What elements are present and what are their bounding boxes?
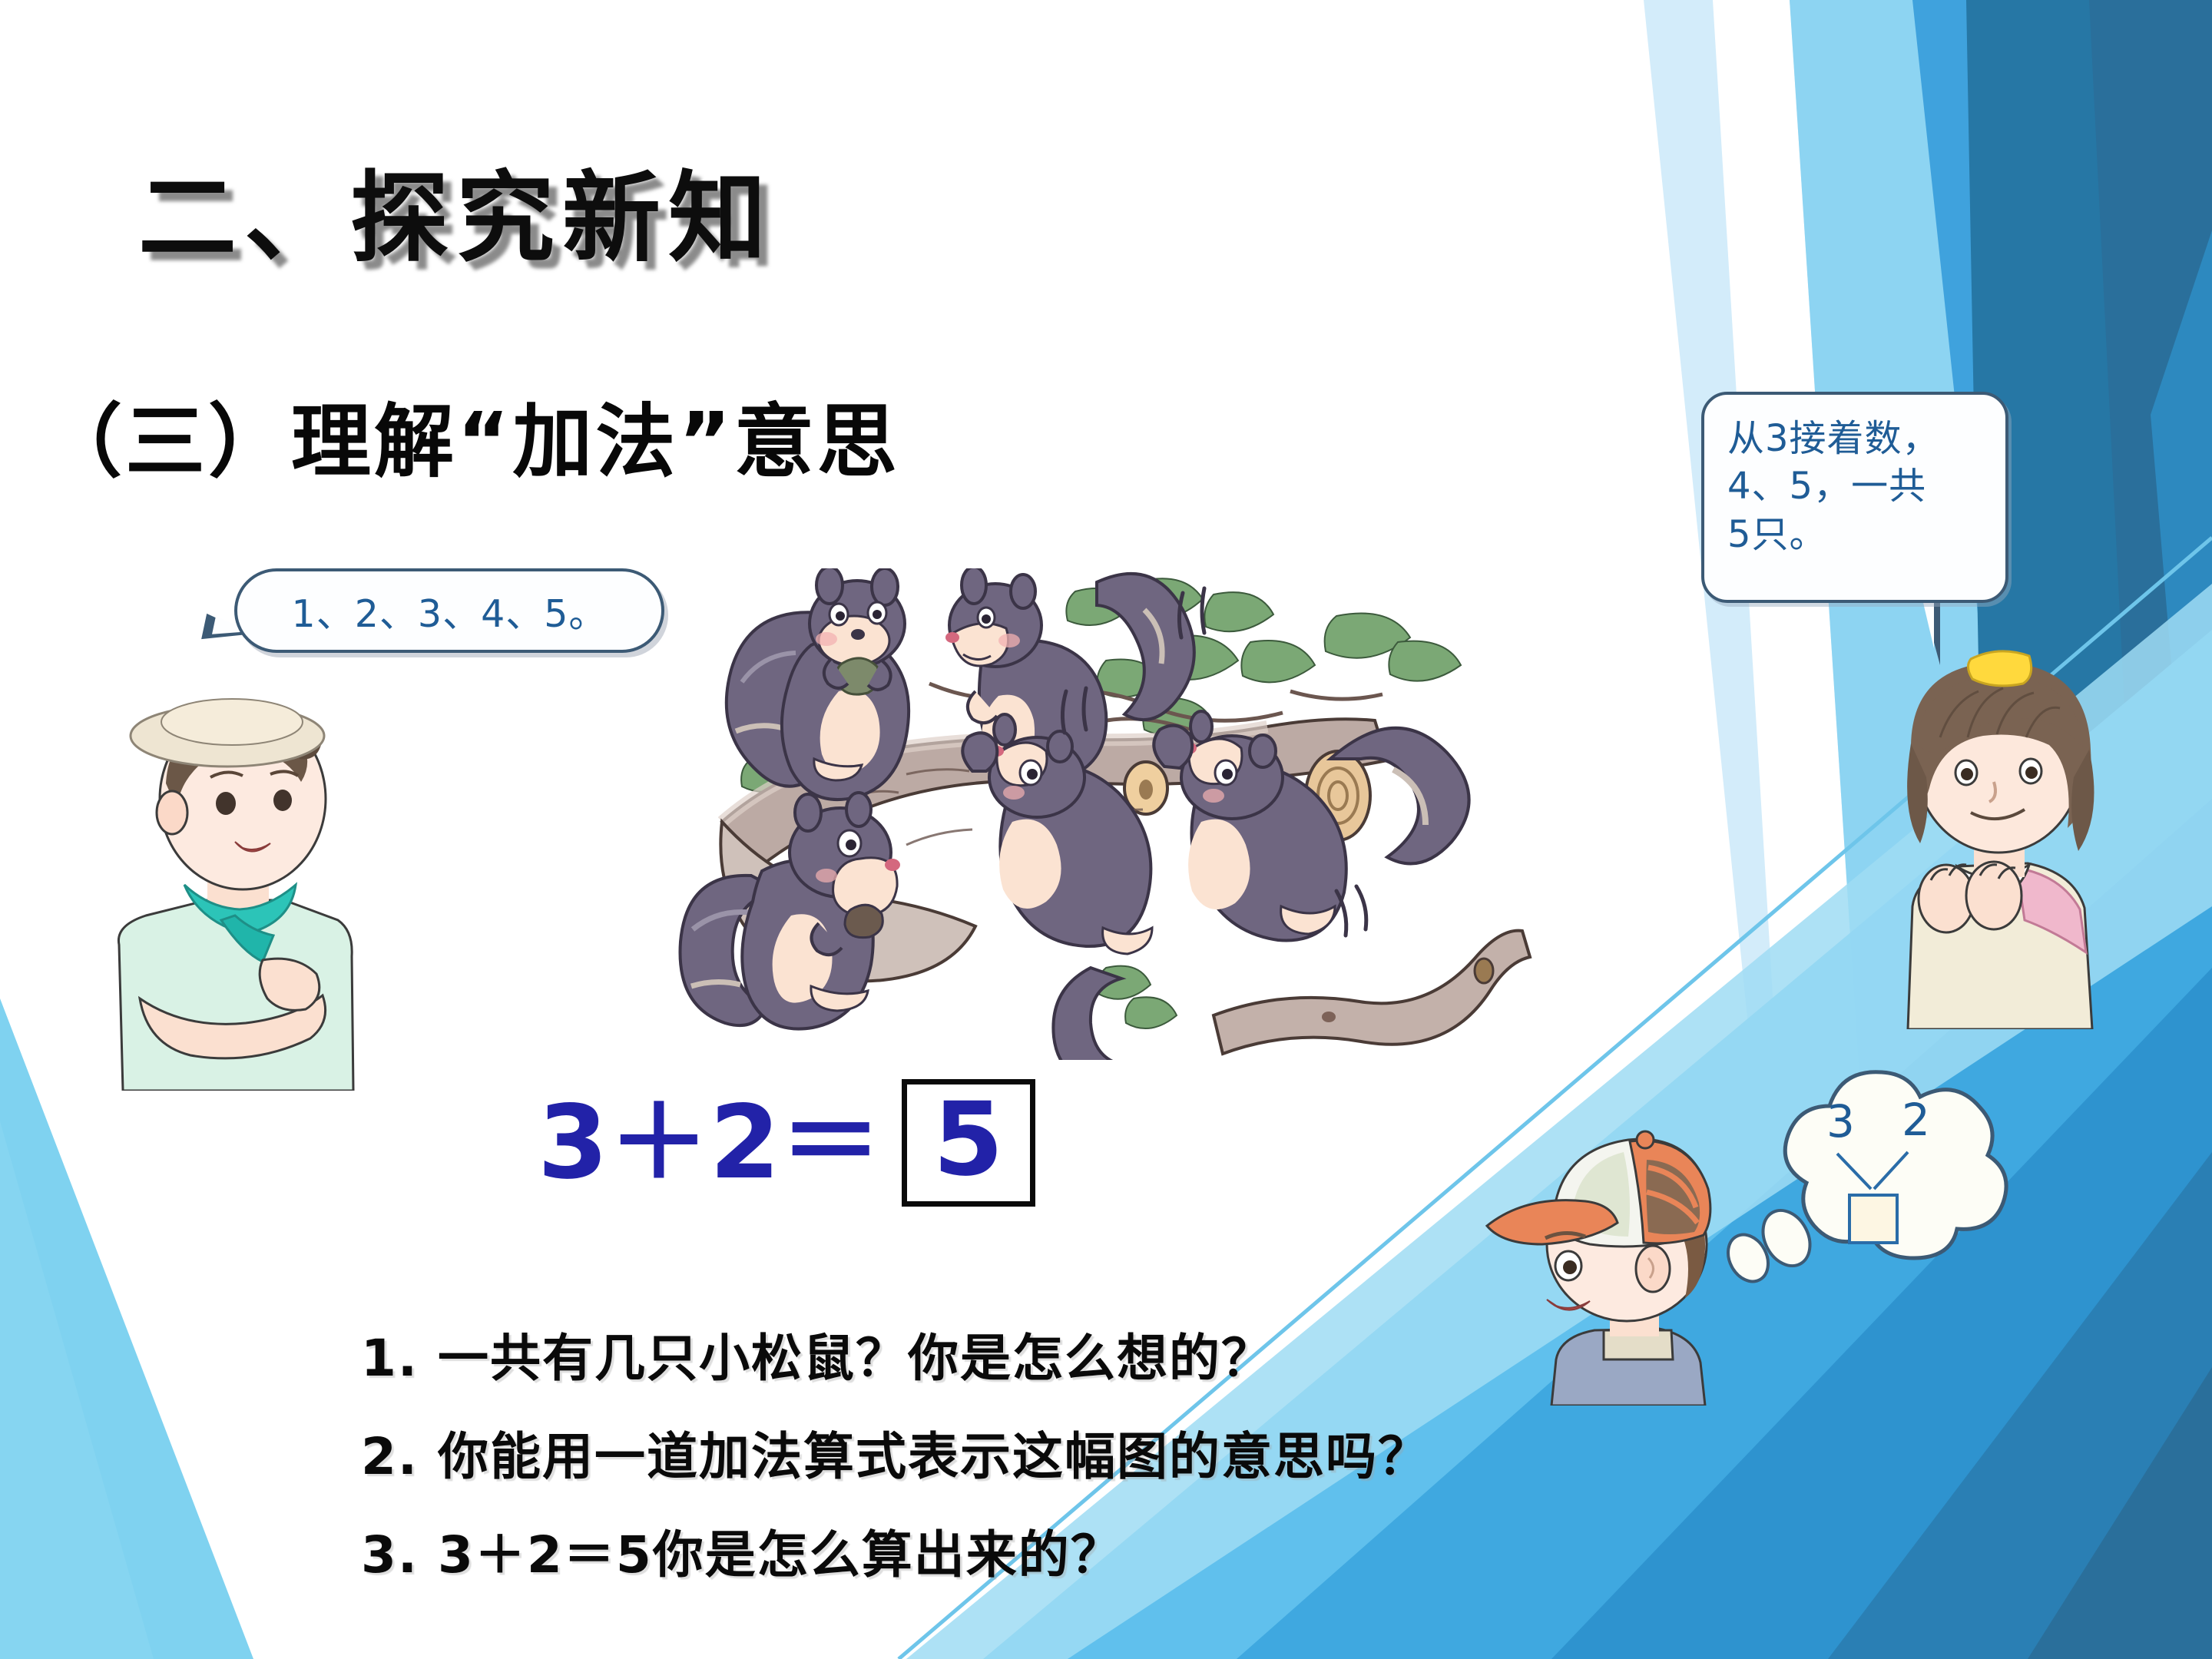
bg-triangle-bottom-left	[0, 998, 253, 1659]
slide-root: 二、探究新知 （三）理解“加法”意思 1、2、3、4、5。 从3接着数， 4、5…	[0, 0, 2212, 1659]
squirrel-3-nut	[845, 905, 882, 937]
equation-plus-sign: ＋	[608, 1092, 710, 1194]
squirrel-5-cheek	[1203, 789, 1224, 803]
bg-wedge-bottom-5	[2028, 1367, 2212, 1659]
squirrel-2-ear-left	[962, 568, 986, 604]
squirrel-5-ear-right	[1250, 735, 1276, 767]
page-subtitle: （三）理解“加法”意思	[42, 376, 900, 492]
squirrel-4-ear-right	[1048, 731, 1072, 762]
question-list: 1. 一共有几只小松鼠？你是怎么想的？ 2. 你能用一道加法算式表示这幅图的意思…	[361, 1317, 1430, 1612]
boy-hat-crown	[161, 699, 303, 745]
girl-hand-right	[1966, 862, 2022, 929]
bg-band-accent-right	[2151, 230, 2212, 1152]
squirrel-4-paw-up	[962, 733, 997, 771]
character-boy-with-hat	[92, 691, 392, 1091]
squirrel-5-paw-up	[1154, 726, 1192, 768]
speech-bubble-right-line2: 4、5，一共	[1727, 462, 1988, 510]
equation-answer-box[interactable]: 5	[902, 1079, 1035, 1207]
thought-bubble-number-bond: 3 2	[1720, 1060, 2028, 1306]
squirrel-1-ear-left	[816, 568, 843, 604]
speech-bubble-right-line1: 从3接着数，	[1727, 415, 1988, 462]
addition-equation: 3 ＋ 2 ＝ 5	[538, 1079, 1035, 1207]
squirrel-3-ear-left	[795, 794, 821, 831]
equation-addend-two: 2	[710, 1092, 780, 1194]
boy-ear	[157, 791, 187, 834]
cap-boy-cap-button	[1637, 1131, 1654, 1148]
squirrel-3-cheek	[816, 869, 837, 882]
number-bond-part-b: 2	[1902, 1094, 1930, 1146]
equation-addend-one: 3	[538, 1092, 608, 1194]
girl-hair-clip	[1968, 651, 2031, 686]
boy-eye-right	[273, 790, 292, 811]
speech-bubble-left: 1、2、3、4、5。	[234, 568, 664, 653]
boy-eye-left	[216, 792, 236, 815]
bg-triangle-bottom-left-inner	[0, 1121, 154, 1659]
squirrel-2-cheek	[998, 634, 1020, 647]
question-item-3: 3. 3＋2＝5你是怎么算出来的？	[361, 1514, 1430, 1588]
squirrel-on-branch-1	[727, 568, 909, 800]
squirrel-3-ear-right	[846, 793, 871, 826]
speech-bubble-right: 从3接着数， 4、5，一共 5只。	[1701, 392, 2008, 603]
page-title: 二、探究新知	[138, 138, 774, 280]
number-bond-part-a: 3	[1826, 1095, 1855, 1147]
question-item-1: 1. 一共有几只小松鼠？你是怎么想的？	[361, 1317, 1430, 1391]
squirrel-4-ear-left	[994, 714, 1015, 745]
bare-branch-lower-right	[1214, 931, 1530, 1054]
equation-equals-sign: ＝	[780, 1092, 882, 1194]
squirrel-1-cheek	[816, 632, 837, 646]
squirrel-2-ear-right	[1011, 575, 1035, 608]
number-bond-whole-box	[1849, 1195, 1897, 1243]
illustration-squirrels-on-pine-branch	[676, 568, 1736, 1060]
character-girl-with-hairclip	[1866, 645, 2135, 1029]
squirrel-3-nose	[885, 859, 900, 871]
squirrel-5-ear-left	[1190, 711, 1212, 742]
squirrel-4-cheek	[1003, 786, 1025, 800]
squirrel-2-nose	[945, 632, 959, 643]
squirrel-1-nose	[851, 629, 865, 640]
speech-bubble-right-line3: 5只。	[1727, 511, 1988, 558]
question-item-2: 2. 你能用一道加法算式表示这幅图的意思吗？	[361, 1416, 1430, 1489]
squirrel-1-ear-right	[872, 568, 898, 605]
speech-bubble-left-text: 1、2、3、4、5。	[292, 584, 608, 638]
